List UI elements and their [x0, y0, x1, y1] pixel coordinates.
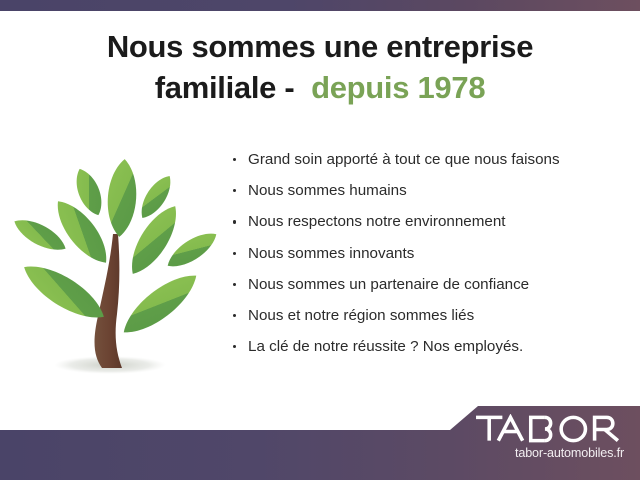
page-title: Nous sommes une entreprise familiale - d… [0, 26, 640, 108]
brand-logo[interactable]: tabor-automobiles.fr [466, 414, 626, 460]
list-item: Nous sommes innovants [231, 244, 631, 263]
leaf [115, 265, 204, 343]
list-item: Nous et notre région sommes liés [231, 306, 631, 325]
leaf [48, 193, 117, 271]
tree-icon [12, 152, 218, 388]
slide-canvas: Nous sommes une entreprise familiale - d… [0, 0, 640, 480]
headline-line-2: familiale - depuis 1978 [0, 67, 640, 108]
top-accent-bar [0, 0, 640, 11]
value-bullet-list: Grand soin apporté à tout ce que nous fa… [231, 150, 631, 368]
headline-line-1: Nous sommes une entreprise [0, 26, 640, 67]
headline-prefix: familiale [155, 70, 276, 105]
leaf [17, 255, 112, 329]
footer-bar: tabor-automobiles.fr [0, 400, 640, 480]
list-item: Nous respectons notre environnement [231, 212, 631, 231]
list-item: Nous sommes humains [231, 181, 631, 200]
tabor-wordmark [474, 414, 626, 444]
list-item: Nous sommes un partenaire de confiance [231, 275, 631, 294]
headline-dash: - [276, 70, 311, 105]
logo-tagline: tabor-automobiles.fr [466, 446, 626, 460]
headline-accent: depuis 1978 [311, 70, 485, 105]
list-item: La clé de notre réussite ? Nos employés. [231, 337, 631, 356]
leaf [105, 158, 139, 238]
list-item: Grand soin apporté à tout ce que nous fa… [231, 150, 631, 169]
